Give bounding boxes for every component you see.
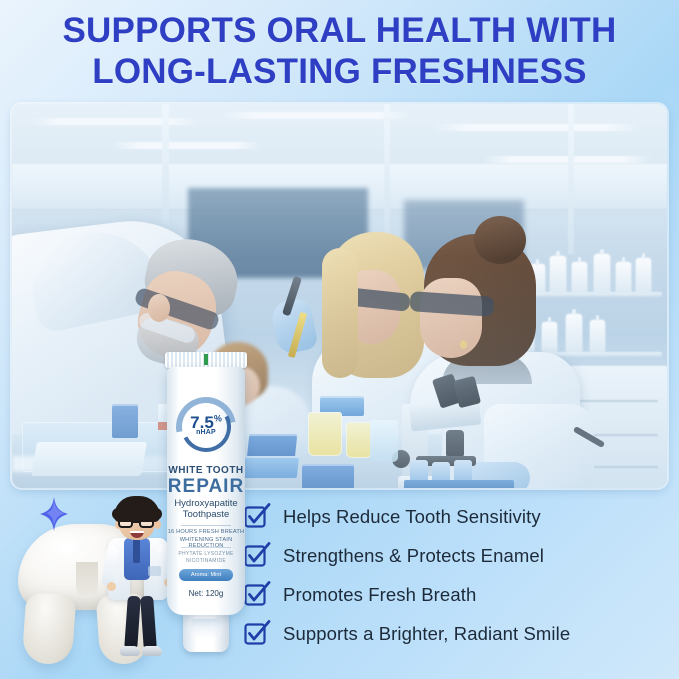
tube-divider-2	[181, 547, 231, 548]
nhap-badge: 7.5% nHAP	[176, 397, 236, 457]
tube-brand-line-2: REPAIR	[167, 476, 245, 498]
glass-beaker	[370, 420, 398, 462]
tube-brand-line-1: WHITE TOOTH	[167, 465, 245, 476]
ceiling-light	[482, 156, 652, 163]
badge-ingredient: nHAP	[176, 429, 236, 436]
reagent-flask	[308, 412, 342, 456]
cabinet-drawer-line	[578, 400, 658, 402]
window-mullion	[162, 104, 169, 224]
toothpaste-tube: 7.5% nHAP WHITE TOOTH REPAIR Hydroxyapat…	[158, 352, 254, 652]
window-mullion	[384, 104, 390, 234]
ceiling-light	[30, 118, 200, 125]
ceiling-light	[112, 142, 262, 149]
tube-divider	[181, 525, 231, 526]
crimp-eye-mark	[204, 354, 208, 365]
reagent-bottle	[542, 322, 557, 352]
reagent-bottle	[590, 320, 605, 352]
tube-net-weight: Net: 120g	[167, 589, 245, 598]
benefit-label: Supports a Brighter, Radiant Smile	[283, 623, 570, 645]
benefit-item: Supports a Brighter, Radiant Smile	[245, 614, 669, 653]
lab-tray	[31, 442, 147, 476]
lab-photo	[12, 104, 667, 488]
tube-claim-1: 16 HOURS FRESH BREATH	[167, 529, 245, 535]
tube-descriptor-2: Toothpaste	[167, 509, 245, 520]
reagent-bottle	[572, 262, 587, 294]
pipette-tip-rack	[112, 404, 138, 438]
tube-ingredients-2: NICOTINAMIDE	[167, 558, 245, 564]
mascot-hand-left	[107, 582, 116, 591]
reagent-bottle	[616, 262, 631, 294]
ceiling-light	[432, 124, 642, 131]
tooth-root-left	[22, 592, 77, 665]
benefit-item: Strengthens & Protects Enamel	[245, 536, 669, 575]
tube-body: 7.5% nHAP WHITE TOOTH REPAIR Hydroxyapat…	[167, 367, 245, 615]
tooth-highlight	[50, 538, 80, 558]
reagent-bottle	[594, 254, 610, 294]
tube-rack	[404, 480, 514, 488]
tube-crimp-seal	[165, 352, 247, 368]
headline-line-1: SUPPORTS ORAL HEALTH WITH	[63, 11, 617, 50]
benefit-label: Promotes Fresh Breath	[283, 584, 476, 606]
mascot-leg-right	[140, 596, 157, 651]
tooth-notch	[76, 562, 98, 598]
benefit-item: Helps Reduce Tooth Sensitivity	[245, 497, 669, 536]
pipette-tip-rack	[302, 464, 354, 488]
reagent-bottle	[550, 256, 566, 294]
sparkle-icon	[40, 497, 68, 531]
benefit-label: Strengthens & Protects Enamel	[283, 545, 544, 567]
reagent-flask	[346, 422, 372, 458]
benefit-item: Promotes Fresh Breath	[245, 575, 669, 614]
page-title: SUPPORTS ORAL HEALTH WITH LONG-LASTING F…	[0, 10, 679, 93]
headline-line-2: LONG-LASTING FRESHNESS	[0, 51, 679, 92]
benefits-list: Helps Reduce Tooth Sensitivity Strengthe…	[245, 497, 669, 653]
earring	[460, 340, 467, 349]
window-mullion	[568, 104, 574, 254]
scientist-male-ear	[148, 294, 170, 322]
scientist-brunette-face	[420, 278, 482, 358]
microscope-objective	[446, 430, 464, 458]
hair-bun	[474, 216, 526, 264]
mascot-tie	[133, 539, 140, 563]
tube-cap	[183, 612, 229, 652]
benefit-label: Helps Reduce Tooth Sensitivity	[283, 506, 541, 528]
tube-ingredients-1: PHYTATE LYSOZYME	[167, 551, 245, 557]
scientist-blonde-hair-front	[322, 248, 358, 378]
badge-percent-symbol: %	[214, 413, 222, 423]
tube-descriptor-1: Hydroxyapatite	[167, 498, 245, 509]
reagent-bottle	[636, 258, 651, 294]
tube-aroma-pill: Aroma: Mint fragrance	[179, 569, 233, 581]
reagent-bottle	[566, 314, 582, 352]
mascot-leg-left	[124, 596, 141, 651]
mascot-shoe-left	[120, 646, 140, 656]
mascot-hair-fringe	[112, 508, 162, 520]
